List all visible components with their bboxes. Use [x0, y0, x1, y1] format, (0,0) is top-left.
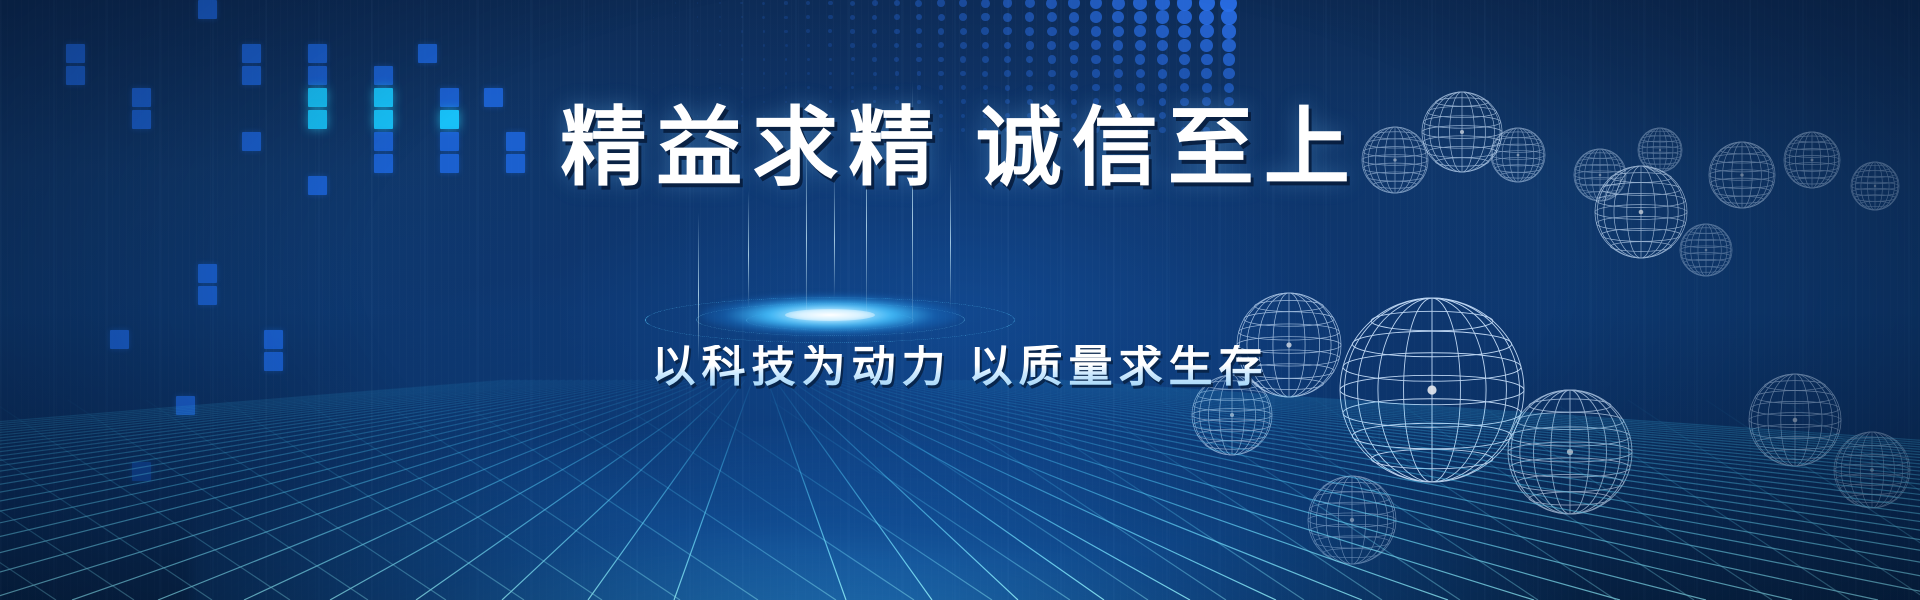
halftone-dot — [1047, 41, 1056, 50]
halftone-dot — [719, 59, 721, 61]
halftone-dot — [740, 2, 743, 5]
halftone-dot — [872, 43, 877, 48]
mosaic-pixel — [308, 44, 327, 63]
halftone-dot — [1136, 83, 1144, 91]
halftone-dot — [895, 71, 899, 75]
light-beam — [748, 190, 749, 308]
halftone-dot — [983, 85, 989, 91]
halftone-dot — [960, 71, 966, 77]
halftone-dot — [1003, 13, 1012, 22]
halftone-dot — [829, 58, 833, 62]
halftone-dot — [1092, 84, 1100, 92]
halftone-dot — [1003, 27, 1011, 35]
halftone-dot — [653, 59, 654, 60]
halftone-dot — [1222, 39, 1236, 53]
halftone-dot — [697, 45, 699, 47]
halftone-dot — [872, 0, 878, 6]
wireframe-globe — [1338, 296, 1526, 484]
halftone-dot — [1199, 0, 1215, 11]
vertical-light-streaks-overlay — [0, 0, 1920, 600]
glow-core-highlight — [785, 309, 875, 321]
halftone-dot — [938, 71, 943, 76]
halftone-dot — [894, 29, 900, 35]
halftone-dot — [697, 30, 699, 32]
halftone-dot — [719, 2, 721, 4]
halftone-dot — [1134, 11, 1147, 24]
halftone-dot — [1113, 40, 1124, 51]
wireframe-globe — [1678, 222, 1734, 278]
halftone-dot — [1025, 27, 1034, 36]
halftone-dot — [960, 42, 967, 49]
halftone-dot — [916, 43, 922, 49]
halftone-dot — [807, 44, 810, 47]
light-beam — [698, 212, 699, 362]
halftone-dot — [828, 15, 832, 19]
mosaic-pixel — [308, 66, 327, 85]
halftone-dot — [697, 16, 699, 18]
halftone-dot — [1200, 39, 1213, 52]
halftone-dot — [763, 72, 765, 74]
mosaic-pixel — [374, 66, 393, 85]
halftone-dot — [741, 30, 743, 32]
halftone-dot — [763, 30, 766, 33]
halftone-dot — [937, 0, 945, 7]
halftone-dot — [806, 15, 810, 19]
halftone-dot — [1178, 25, 1191, 38]
halftone-dot — [653, 45, 654, 46]
halftone-dot — [1069, 26, 1079, 36]
halftone-dot — [1156, 10, 1170, 24]
halftone-dot — [697, 2, 699, 4]
halftone-dot — [762, 16, 765, 19]
halftone-dot — [1092, 69, 1100, 77]
halftone-dot — [916, 14, 923, 21]
halftone-dot — [894, 57, 899, 62]
halftone-dot — [872, 57, 876, 61]
halftone-dot — [939, 85, 944, 90]
halftone-dot — [1220, 0, 1237, 12]
halftone-dot — [784, 30, 787, 33]
halftone-dot — [741, 44, 743, 46]
halftone-dot — [1112, 0, 1125, 10]
halftone-dot — [675, 31, 676, 32]
halftone-dot — [873, 86, 877, 90]
halftone-dot — [1158, 83, 1167, 92]
halftone-dot — [1005, 85, 1011, 91]
mosaic-pixel — [198, 286, 217, 305]
glow-core — [700, 294, 960, 336]
halftone-dot — [785, 44, 788, 47]
halftone-dot — [851, 86, 854, 89]
halftone-dot — [653, 17, 654, 18]
halftone-dot — [1046, 0, 1057, 9]
halftone-dot — [1222, 24, 1237, 39]
halftone-dot — [961, 85, 966, 90]
halftone-dot — [1048, 70, 1055, 77]
vignette-overlay — [0, 0, 1920, 600]
halftone-dot — [806, 1, 810, 5]
halftone-dot — [675, 17, 676, 18]
halftone-dot — [850, 43, 854, 47]
vertical-streaks-overlay — [0, 0, 1920, 600]
halftone-dot — [1155, 0, 1170, 10]
halftone-dot — [1004, 42, 1012, 50]
halftone-dot — [1202, 83, 1212, 93]
halftone-dot — [981, 13, 989, 21]
halftone-dot — [719, 30, 721, 32]
halftone-dot — [697, 87, 698, 88]
halftone-dot — [741, 16, 744, 19]
halftone-dot — [959, 0, 967, 7]
halftone-dot — [1134, 25, 1146, 37]
halftone-dot — [851, 72, 855, 76]
halftone-dot — [653, 73, 654, 74]
halftone-dot — [1004, 70, 1011, 77]
halftone-dot — [981, 0, 990, 8]
halftone-dot — [785, 86, 787, 88]
mosaic-pixel — [242, 44, 261, 63]
halftone-dot — [1114, 69, 1123, 78]
halftone-dot — [938, 57, 944, 63]
halftone-dot — [1135, 40, 1146, 51]
halftone-dot — [938, 42, 944, 48]
halftone-dot — [784, 16, 787, 19]
halftone-dot — [1004, 56, 1011, 63]
halftone-dot — [1223, 53, 1235, 65]
halftone-dot — [1091, 55, 1100, 64]
halftone-dot — [1136, 69, 1145, 78]
halftone-dot — [1157, 40, 1169, 52]
halftone-dot — [1047, 12, 1057, 22]
halftone-dot — [1179, 54, 1190, 65]
halftone-dot — [1158, 69, 1168, 79]
halftone-dot — [697, 73, 699, 75]
ring-middle — [696, 304, 965, 337]
halftone-dot — [1047, 27, 1057, 37]
halftone-dot — [828, 29, 832, 33]
halftone-dot — [850, 29, 855, 34]
halftone-dot — [982, 42, 989, 49]
pixel-mosaic — [0, 0, 340, 520]
halftone-dot — [675, 45, 676, 46]
halftone-dot — [1068, 0, 1080, 9]
mosaic-pixel — [66, 44, 85, 63]
halftone-dot — [653, 3, 654, 4]
wireframe-globe — [1306, 474, 1398, 566]
halftone-dot — [719, 87, 721, 89]
mosaic-pixel — [176, 396, 195, 415]
halftone-dot — [982, 56, 989, 63]
halftone-dot — [959, 13, 967, 21]
halftone-dot — [675, 59, 676, 60]
halftone-dot — [1201, 54, 1213, 66]
halftone-dot — [916, 28, 922, 34]
halftone-dot — [1201, 68, 1212, 79]
floor-glow — [192, 430, 1574, 600]
halftone-dot — [1070, 84, 1077, 91]
halftone-dot — [763, 44, 766, 47]
halftone-dot — [675, 73, 676, 74]
halftone-dot — [1069, 41, 1078, 50]
mosaic-pixel — [242, 66, 261, 85]
ring-outer — [645, 298, 1015, 343]
halftone-dot — [719, 73, 721, 75]
mosaic-pixel — [132, 462, 151, 481]
halftone-dot — [1178, 39, 1190, 51]
halftone-dot — [829, 72, 832, 75]
halftone-dot — [1003, 0, 1013, 8]
halftone-dot — [981, 27, 989, 35]
banner-subline: 以科技为动力 以质量求生存 — [0, 345, 1920, 389]
halftone-dot — [807, 58, 810, 61]
halftone-dot — [872, 29, 877, 34]
halftone-dot — [1177, 10, 1191, 24]
halftone-dot — [894, 43, 899, 48]
halftone-dot — [1199, 10, 1214, 25]
wireframe-globes — [0, 0, 1920, 600]
mosaic-pixel — [198, 264, 217, 283]
halftone-dot — [675, 87, 676, 88]
halftone-dot — [1025, 0, 1035, 8]
halftone-dot — [807, 86, 810, 89]
halftone-dot — [762, 2, 765, 5]
halftone-dot — [917, 85, 921, 89]
halftone-dot — [1026, 85, 1032, 91]
halftone-dot — [960, 56, 966, 62]
halftone-dot — [917, 71, 922, 76]
halftone-dot — [675, 2, 676, 3]
halftone-dot — [916, 57, 921, 62]
halftone-dot — [763, 87, 765, 89]
halftone-dot — [938, 28, 945, 35]
halftone-dot — [785, 58, 788, 61]
halftone-dot — [982, 71, 988, 77]
halftone-dot — [894, 0, 900, 6]
halftone-dot — [894, 14, 900, 20]
halftone-dot — [1177, 0, 1192, 11]
halftone-dot — [1091, 26, 1102, 37]
halftone-dot — [1180, 83, 1189, 92]
halftone-dot — [1026, 70, 1033, 77]
halftone-dot — [763, 58, 766, 61]
halftone-dot — [653, 87, 654, 88]
halftone-dot — [1090, 0, 1102, 9]
halftone-dot — [1200, 24, 1214, 38]
halftone-dot — [960, 28, 967, 35]
halftone-dot — [1025, 12, 1035, 22]
halftone-dot — [1070, 55, 1079, 64]
wireframe-globe — [1832, 430, 1912, 510]
halftone-dot — [1091, 40, 1101, 50]
ring-inner — [746, 310, 914, 330]
halftone-dot — [697, 59, 699, 61]
mosaic-pixel — [198, 0, 217, 19]
halftone-dot — [785, 72, 788, 75]
mosaic-pixel — [418, 44, 437, 63]
mosaic-pixel — [66, 66, 85, 85]
halftone-dot — [850, 15, 855, 20]
halftone-dot — [741, 87, 743, 89]
halftone-dot — [806, 29, 810, 33]
halftone-dot — [1135, 54, 1145, 64]
banner-headline: 精益求精 诚信至上 — [0, 105, 1920, 191]
halftone-dot — [828, 1, 833, 6]
halftone-dot — [1156, 25, 1169, 38]
halftone-dot — [851, 57, 855, 61]
halftone-dot — [807, 72, 810, 75]
halftone-dot — [938, 14, 945, 21]
halftone-dot — [873, 72, 877, 76]
halftone-dot — [653, 31, 654, 32]
halftone-dot — [1090, 11, 1102, 23]
halftone-dot — [1133, 0, 1147, 10]
halftone-dot — [1114, 84, 1122, 92]
halftone-dot — [915, 0, 922, 7]
halftone-dot — [1221, 9, 1237, 25]
halftone-dot — [872, 15, 877, 20]
halftone-dot — [1113, 55, 1123, 65]
halftone-dot — [719, 16, 721, 18]
halftone-dot — [1069, 12, 1080, 23]
halftone-dot — [850, 1, 855, 6]
hero-banner: 精益求精 诚信至上 以科技为动力 以质量求生存 — [0, 0, 1920, 600]
halftone-dot — [1026, 56, 1034, 64]
wireframe-globe — [1506, 388, 1634, 516]
halftone-dot — [719, 44, 721, 46]
halftone-dot — [1026, 41, 1034, 49]
halftone-dot — [1113, 26, 1124, 37]
halftone-dot — [1048, 55, 1056, 63]
halftone-dot — [1179, 68, 1189, 78]
halftone-dot — [895, 86, 899, 90]
halftone-dot — [1223, 68, 1234, 79]
halftone-dot — [741, 58, 743, 60]
halftone-dot — [784, 1, 788, 5]
halftone-dot — [1048, 84, 1055, 91]
halftone-dot — [1112, 11, 1124, 23]
halftone-dot — [1224, 83, 1234, 93]
halftone-dot — [741, 73, 743, 75]
halftone-dot — [1157, 54, 1168, 65]
halftone-dot — [829, 86, 832, 89]
halftone-dot — [1070, 70, 1078, 78]
halftone-dot — [828, 43, 832, 47]
